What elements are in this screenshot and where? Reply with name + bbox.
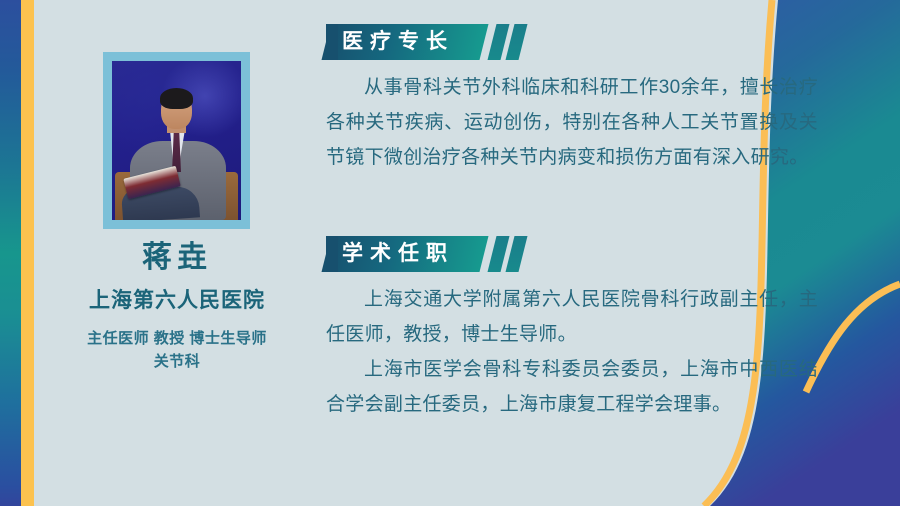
doctor-titles: 主任医师 教授 博士生导师 [34,327,320,350]
doctor-department: 关节科 [34,350,320,373]
heading-banner-cap [326,24,338,60]
poster-canvas: 蒋垚 上海第六人民医院 主任医师 教授 博士生导师 关节科 医疗专长 从事骨科关… [0,0,900,506]
heading-banner-cap [326,236,338,272]
heading-label: 学术任职 [342,236,454,272]
doctor-photo-frame [103,52,250,229]
heading-slash-icon [506,24,528,60]
doctor-photo [112,61,241,220]
heading-label: 医疗专长 [342,24,454,60]
section-body-academic: 上海交通大学附属第六人民医院骨科行政副主任，主任医师，教授，博士生导师。 上海市… [326,282,818,422]
doctor-hospital: 上海第六人民医院 [34,288,320,314]
section-body-specialty: 从事骨科关节外科临床和科研工作30余年，擅长治疗各种关节疾病、运动创伤，特别在各… [326,70,818,175]
left-yellow-stripe [21,0,34,506]
heading-slash-icon [506,236,528,272]
left-gradient-stripe [0,0,21,506]
paragraph: 上海交通大学附属第六人民医院骨科行政副主任，主任医师，教授，博士生导师。 [326,282,818,352]
doctor-name: 蒋垚 [34,240,320,277]
doctor-identity-block: 蒋垚 上海第六人民医院 主任医师 教授 博士生导师 关节科 [34,240,320,373]
paragraph: 从事骨科关节外科临床和科研工作30余年，擅长治疗各种关节疾病、运动创伤，特别在各… [326,70,818,175]
content-column: 医疗专长 从事骨科关节外科临床和科研工作30余年，擅长治疗各种关节疾病、运动创伤… [326,0,826,506]
photo-hair-shape [160,88,194,109]
paragraph: 上海市医学会骨科专科委员会委员，上海市中西医结合学会副主任委员，上海市康复工程学… [326,352,818,422]
